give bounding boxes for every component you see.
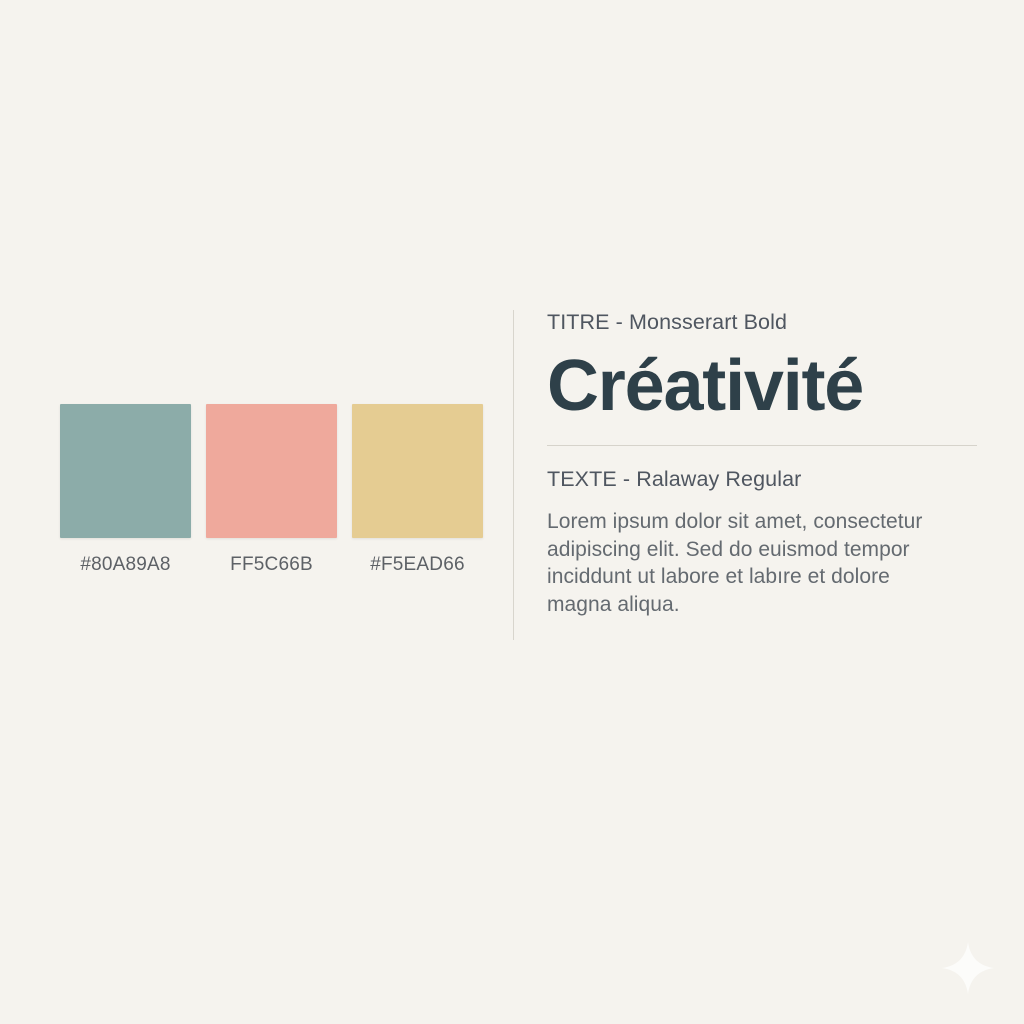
- color-swatch-sage-green[interactable]: #80A89A8: [60, 404, 191, 576]
- color-swatch-salmon-pink[interactable]: FF5C66B: [206, 404, 337, 576]
- body-font-spec: TEXTE - Ralaway Regular: [547, 467, 983, 492]
- body-copy-sample: Lorem ipsum dolor sit amet, consectetur …: [547, 508, 959, 618]
- swatch-hex-label-sand-gold: #F5EAD66: [370, 554, 465, 576]
- swatch-chip-salmon-pink[interactable]: [206, 404, 337, 538]
- color-swatch-sand-gold[interactable]: #F5EAD66: [352, 404, 483, 576]
- section-divider: [547, 445, 977, 447]
- sparkle-icon: [941, 941, 995, 995]
- title-font-spec: TITRE - Monsserart Bold: [547, 310, 983, 335]
- color-palette: #80A89A8 FF5C66B #F5EAD66: [60, 404, 483, 576]
- swatch-chip-sand-gold[interactable]: [352, 404, 483, 538]
- swatch-hex-label-salmon-pink: FF5C66B: [230, 554, 313, 576]
- swatch-hex-label-sage-green: #80A89A8: [80, 554, 170, 576]
- style-guide-board: #80A89A8 FF5C66B #F5EAD66 TITRE - Monsse…: [0, 0, 1024, 1024]
- swatch-chip-sage-green[interactable]: [60, 404, 191, 538]
- headline-sample: Créativité: [547, 349, 983, 425]
- typography-panel: TITRE - Monsserart Bold Créativité TEXTE…: [513, 310, 983, 640]
